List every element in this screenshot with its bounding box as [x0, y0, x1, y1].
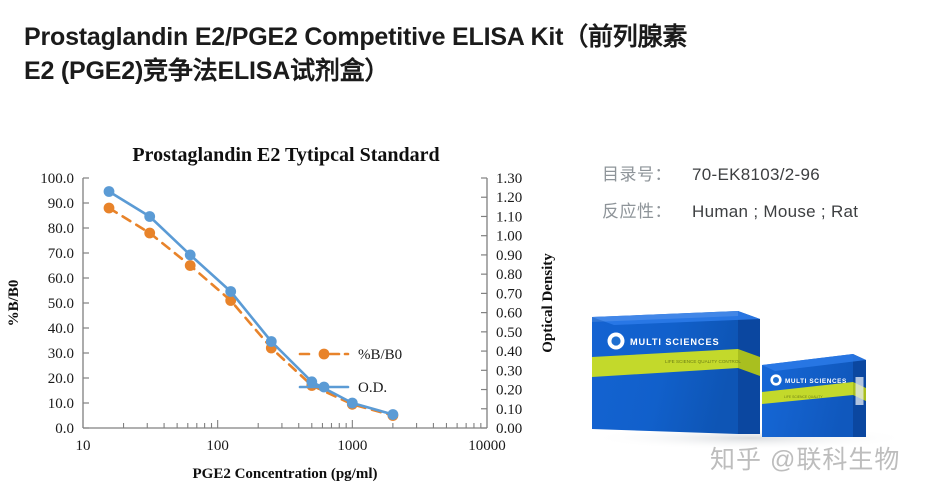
page-title: Prostaglandin E2/PGE2 Competitive ELISA … — [24, 20, 919, 88]
y-ticklabel-right: 0.10 — [496, 402, 522, 418]
x-ticklabel: 10000 — [468, 438, 506, 454]
series-marker-2 — [225, 286, 236, 297]
y-ticklabel-right: 0.30 — [496, 363, 522, 379]
legend-marker-2 — [319, 382, 330, 393]
page-title-line-1: Prostaglandin E2/PGE2 Competitive ELISA … — [24, 20, 919, 54]
y-ticklabel-right: 0.70 — [496, 286, 522, 302]
series-marker-2 — [347, 398, 358, 409]
info-row-catalog: 目录号： 70-EK8103/2-96 — [602, 160, 932, 185]
brand-text-large: MULTI SCIENCES — [630, 337, 720, 347]
y-ticklabel-left: 80.0 — [48, 221, 74, 237]
y-ticklabel-right: 0.00 — [496, 421, 522, 437]
series-marker-2 — [266, 336, 277, 347]
stripe-text-large: LIFE SCIENCE QUALITY CONTROL — [665, 359, 741, 364]
x-ticklabel: 100 — [206, 438, 229, 454]
watermark: 知乎 @联科生物 — [710, 440, 900, 476]
series-line-2 — [109, 192, 393, 415]
y-ticklabel-left: 100.0 — [40, 171, 74, 187]
info-label-reactivity: 反应性： — [602, 197, 692, 222]
series-marker-2 — [104, 186, 115, 197]
x-ticklabel: 10 — [76, 438, 91, 454]
standard-curve-chart: Prostaglandin E2 Tytipcal Standard 0.010… — [0, 136, 566, 489]
info-value-reactivity: Human ; Mouse ; Rat — [692, 202, 858, 222]
series-marker-1 — [104, 203, 115, 214]
info-row-reactivity: 反应性： Human ; Mouse ; Rat — [602, 197, 932, 222]
y-ticklabel-right: 1.30 — [496, 171, 522, 187]
y-ticklabel-left: 40.0 — [48, 321, 74, 337]
y-axis-left-title: %B/B0 — [6, 280, 22, 327]
y-ticklabel-left: 50.0 — [48, 296, 74, 312]
y-ticklabel-left: 30.0 — [48, 346, 74, 362]
series-marker-1 — [144, 228, 155, 239]
series-line-1 — [109, 208, 393, 416]
product-box-small: MULTI SCIENCES LIFE SCIENCE QUALITY — [762, 354, 866, 437]
y-ticklabel-right: 1.10 — [496, 209, 522, 225]
legend-marker-1 — [319, 349, 330, 360]
y-ticklabel-right: 0.50 — [496, 325, 522, 341]
y-ticklabel-right: 1.00 — [496, 229, 522, 245]
brand-text-small: MULTI SCIENCES — [785, 378, 847, 385]
y-ticklabel-right: 1.20 — [496, 190, 522, 206]
y-axis-right-title: Optical Density — [540, 253, 556, 353]
y-ticklabel-right: 0.60 — [496, 306, 522, 322]
y-ticklabel-right: 0.90 — [496, 248, 522, 264]
legend-label-1: %B/B0 — [358, 347, 402, 363]
series-marker-2 — [185, 250, 196, 261]
y-ticklabel-right: 0.80 — [496, 267, 522, 283]
x-ticklabel: 1000 — [337, 438, 367, 454]
y-ticklabel-left: 20.0 — [48, 371, 74, 387]
chart-plot-area: 0.010.020.030.040.050.060.070.080.090.01… — [0, 136, 566, 489]
series-marker-2 — [388, 409, 399, 420]
y-ticklabel-right: 0.40 — [496, 344, 522, 360]
info-label-catalog: 目录号： — [602, 160, 692, 185]
y-ticklabel-left: 60.0 — [48, 271, 74, 287]
stripe-text-small: LIFE SCIENCE QUALITY — [784, 395, 823, 399]
series-marker-2 — [306, 376, 317, 387]
y-ticklabel-right: 0.20 — [496, 383, 522, 399]
y-ticklabel-left: 90.0 — [48, 196, 74, 212]
page-title-line-2: E2 (PGE2)竞争法ELISA试剂盒） — [24, 54, 919, 88]
product-info-panel: 目录号： 70-EK8103/2-96 反应性： Human ; Mouse ;… — [602, 160, 932, 234]
y-ticklabel-left: 10.0 — [48, 396, 74, 412]
y-ticklabel-left: 70.0 — [48, 246, 74, 262]
info-value-catalog: 70-EK8103/2-96 — [692, 165, 820, 185]
y-ticklabel-left: 0.0 — [55, 421, 74, 437]
legend-label-2: O.D. — [358, 380, 387, 396]
series-marker-1 — [185, 260, 196, 271]
x-axis-title: PGE2 Concentration (pg/ml) — [193, 466, 378, 482]
series-marker-2 — [144, 211, 155, 222]
product-box-large: MULTI SCIENCES LIFE SCIENCE QUALITY CONT… — [592, 311, 760, 434]
